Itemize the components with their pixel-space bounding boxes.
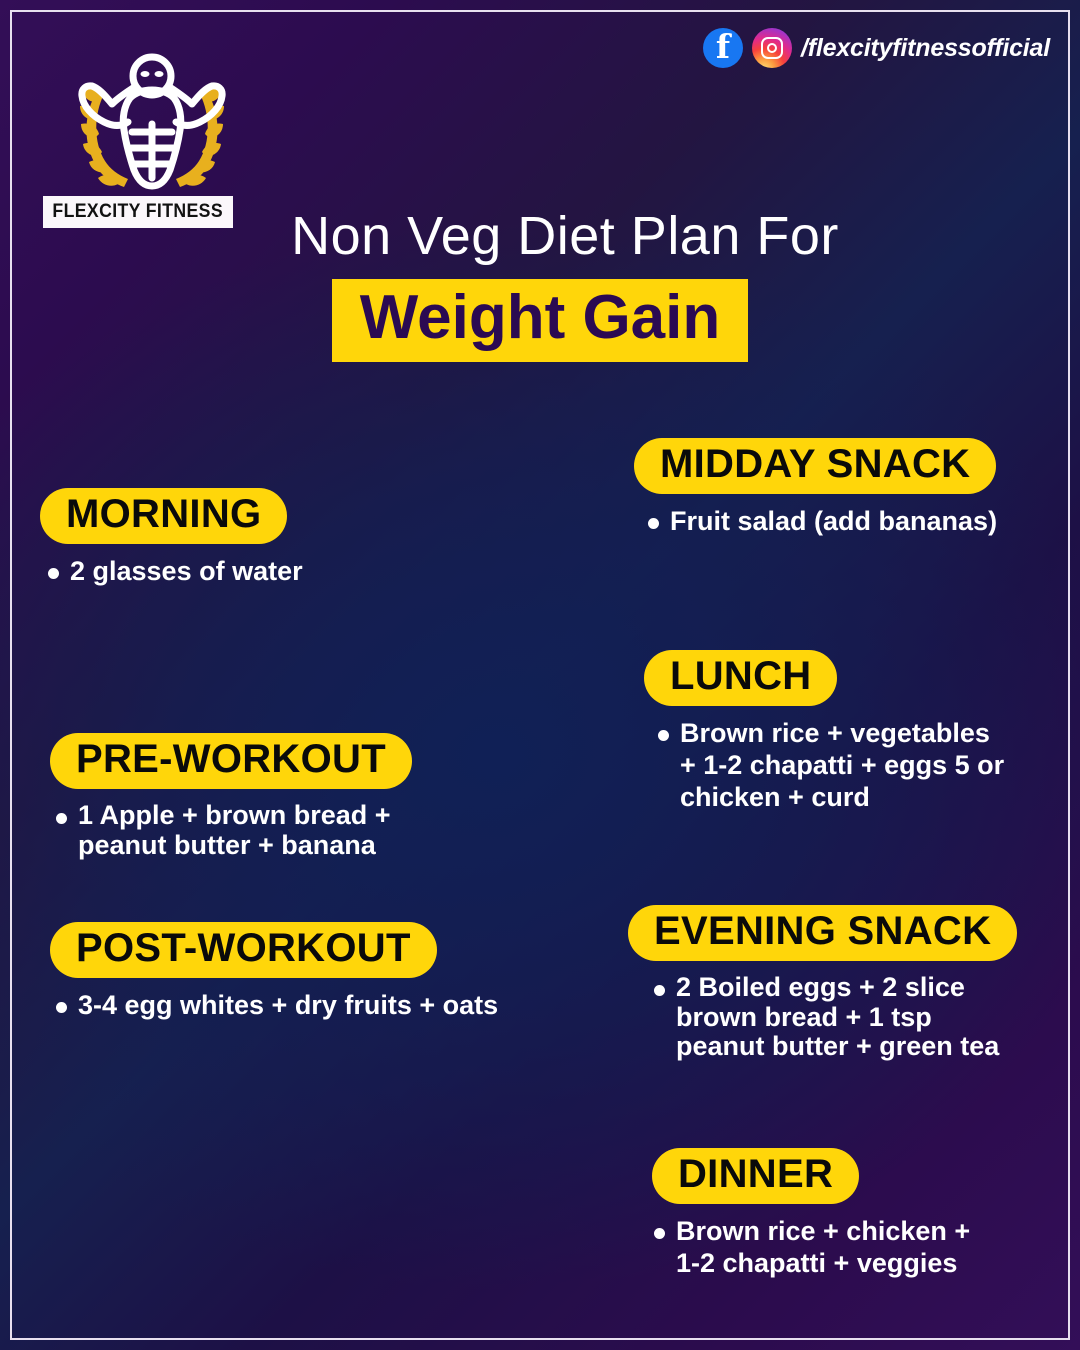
- section-label-lunch: LUNCH: [670, 654, 811, 698]
- list-item-text: Brown rice + vegetables + 1-2 chapatti +…: [680, 718, 1004, 814]
- list-item: 2 glasses of water: [48, 556, 303, 588]
- section-label-pre-workout: PRE-WORKOUT: [76, 737, 386, 781]
- list-item: Brown rice + chicken + 1-2 chapatti + ve…: [654, 1216, 970, 1280]
- list-item-text: 1 Apple + brown bread + peanut butter + …: [78, 801, 391, 860]
- list-item-text: Fruit salad (add bananas): [670, 506, 997, 538]
- item-list-evening-snack: 2 Boiled eggs + 2 slice brown bread + 1 …: [654, 973, 1017, 1062]
- list-item: 3-4 egg whites + dry fruits + oats: [56, 990, 498, 1022]
- page-title: Non Veg Diet Plan For Weight Gain: [0, 208, 1080, 362]
- social-handle-text[interactable]: /flexcityfitnessofficial: [801, 34, 1050, 63]
- item-list-pre-workout: 1 Apple + brown bread + peanut butter + …: [56, 801, 412, 860]
- list-item: Brown rice + vegetables + 1-2 chapatti +…: [658, 718, 1004, 814]
- bullet-icon: [654, 985, 665, 996]
- list-item-text: Brown rice + chicken + 1-2 chapatti + ve…: [676, 1216, 970, 1280]
- section-badge-morning[interactable]: MORNING: [40, 488, 287, 544]
- section-badge-pre-workout[interactable]: PRE-WORKOUT: [50, 733, 412, 789]
- section-morning: MORNING 2 glasses of water: [40, 488, 303, 588]
- title-line-1: Non Veg Diet Plan For: [0, 208, 1080, 265]
- section-lunch: LUNCH Brown rice + vegetables + 1-2 chap…: [644, 650, 1004, 814]
- bullet-icon: [658, 730, 669, 741]
- list-item-line: 2 glasses of water: [70, 556, 303, 588]
- section-badge-midday-snack[interactable]: MIDDAY SNACK: [634, 438, 996, 494]
- list-item-text: 2 Boiled eggs + 2 slice brown bread + 1 …: [676, 973, 999, 1062]
- section-midday-snack: MIDDAY SNACK Fruit salad (add bananas): [634, 438, 997, 538]
- section-label-dinner: DINNER: [678, 1152, 833, 1196]
- list-item-line: chicken + curd: [680, 782, 1004, 814]
- bullet-icon: [48, 568, 59, 579]
- section-pre-workout: PRE-WORKOUT 1 Apple + brown bread + pean…: [50, 733, 412, 860]
- section-badge-post-workout[interactable]: POST-WORKOUT: [50, 922, 437, 978]
- section-label-midday-snack: MIDDAY SNACK: [660, 442, 970, 486]
- instagram-icon[interactable]: [752, 28, 792, 68]
- item-list-lunch: Brown rice + vegetables + 1-2 chapatti +…: [658, 718, 1004, 814]
- item-list-midday-snack: Fruit salad (add bananas): [648, 506, 997, 538]
- list-item-line: 2 Boiled eggs + 2 slice: [676, 973, 999, 1003]
- list-item-line: Brown rice + chicken +: [676, 1216, 970, 1248]
- list-item-text: 2 glasses of water: [70, 556, 303, 588]
- facebook-icon[interactable]: f: [703, 28, 743, 68]
- social-handle-group[interactable]: f /flexcityfitnessofficial: [703, 28, 1050, 68]
- list-item-line: Fruit salad (add bananas): [670, 506, 997, 538]
- list-item-line: Brown rice + vegetables: [680, 718, 1004, 750]
- section-label-morning: MORNING: [66, 492, 261, 536]
- title-highlight: Weight Gain: [332, 279, 749, 362]
- list-item-line: brown bread + 1 tsp: [676, 1003, 999, 1033]
- title-highlight-text: Weight Gain: [360, 283, 721, 352]
- list-item-line: 3-4 egg whites + dry fruits + oats: [78, 990, 498, 1022]
- section-badge-lunch[interactable]: LUNCH: [644, 650, 837, 706]
- list-item: 2 Boiled eggs + 2 slice brown bread + 1 …: [654, 973, 1017, 1062]
- section-badge-evening-snack[interactable]: EVENING SNACK: [628, 905, 1017, 961]
- instagram-lens-glyph: [767, 43, 777, 53]
- poster-canvas: FLEXCITY FITNESS f /flexcityfitnessoffic…: [0, 0, 1080, 1350]
- facebook-f-glyph: f: [703, 28, 743, 68]
- list-item-line: 1-2 chapatti + veggies: [676, 1248, 970, 1280]
- bullet-icon: [648, 518, 659, 529]
- section-evening-snack: EVENING SNACK 2 Boiled eggs + 2 slice br…: [628, 905, 1017, 1062]
- item-list-post-workout: 3-4 egg whites + dry fruits + oats: [56, 990, 498, 1022]
- section-label-post-workout: POST-WORKOUT: [76, 926, 411, 970]
- list-item-text: 3-4 egg whites + dry fruits + oats: [78, 990, 498, 1022]
- section-badge-dinner[interactable]: DINNER: [652, 1148, 859, 1204]
- bullet-icon: [56, 813, 67, 824]
- item-list-dinner: Brown rice + chicken + 1-2 chapatti + ve…: [654, 1216, 970, 1280]
- section-label-evening-snack: EVENING SNACK: [654, 909, 991, 953]
- bullet-icon: [654, 1228, 665, 1239]
- bullet-icon: [56, 1002, 67, 1013]
- list-item-line: + 1-2 chapatti + eggs 5 or: [680, 750, 1004, 782]
- list-item: 1 Apple + brown bread + peanut butter + …: [56, 801, 412, 860]
- list-item-line: peanut butter + green tea: [676, 1032, 999, 1062]
- section-post-workout: POST-WORKOUT 3-4 egg whites + dry fruits…: [50, 922, 498, 1022]
- section-dinner: DINNER Brown rice + chicken + 1-2 chapat…: [652, 1148, 970, 1280]
- list-item: Fruit salad (add bananas): [648, 506, 997, 538]
- item-list-morning: 2 glasses of water: [48, 556, 303, 588]
- list-item-line: peanut butter + banana: [78, 831, 391, 861]
- list-item-line: 1 Apple + brown bread +: [78, 801, 391, 831]
